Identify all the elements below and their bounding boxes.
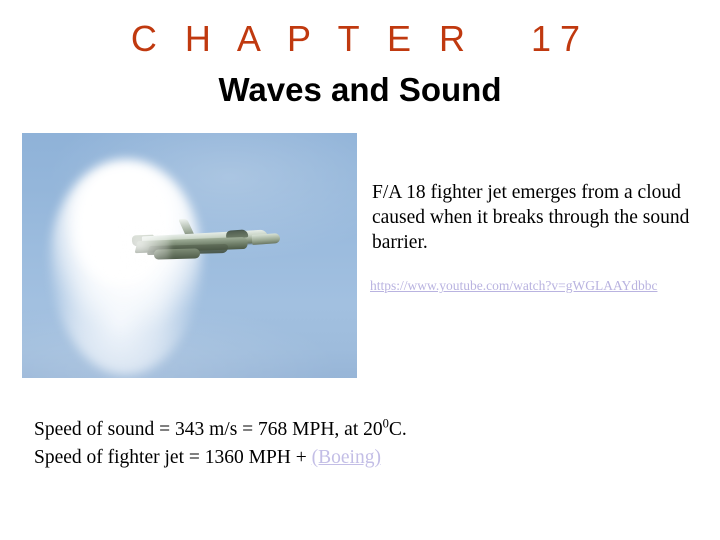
speed-of-jet-text: Speed of fighter jet = 1360 MPH + <box>34 447 312 468</box>
photo-caption: F/A 18 fighter jet emerges from a cloud … <box>372 180 702 255</box>
slide-canvas: C H A P T E R 17 Waves and Sound F/A 18 … <box>0 0 720 540</box>
speed-of-jet-line: Speed of fighter jet = 1360 MPH + (Boein… <box>34 444 694 472</box>
fighter-jet-figure <box>130 217 276 271</box>
speed-facts-block: Speed of sound = 343 m/s = 768 MPH, at 2… <box>34 416 694 472</box>
youtube-video-link[interactable]: https://www.youtube.com/watch?v=gWGLAAYd… <box>370 277 715 294</box>
slide-subtitle: Waves and Sound <box>0 70 720 110</box>
speed-of-sound-text: Speed of sound = 343 m/s = 768 MPH, at 2… <box>34 419 383 440</box>
speed-of-sound-line: Speed of sound = 343 m/s = 768 MPH, at 2… <box>34 416 694 444</box>
jet-vapor-overlay <box>118 223 170 267</box>
fa18-vapor-cone-photo <box>22 133 357 378</box>
jet-nose <box>252 233 281 245</box>
celsius-suffix: C. <box>389 419 407 440</box>
boeing-link[interactable]: (Boeing) <box>312 447 381 468</box>
chapter-title: C H A P T E R 17 <box>0 18 720 60</box>
